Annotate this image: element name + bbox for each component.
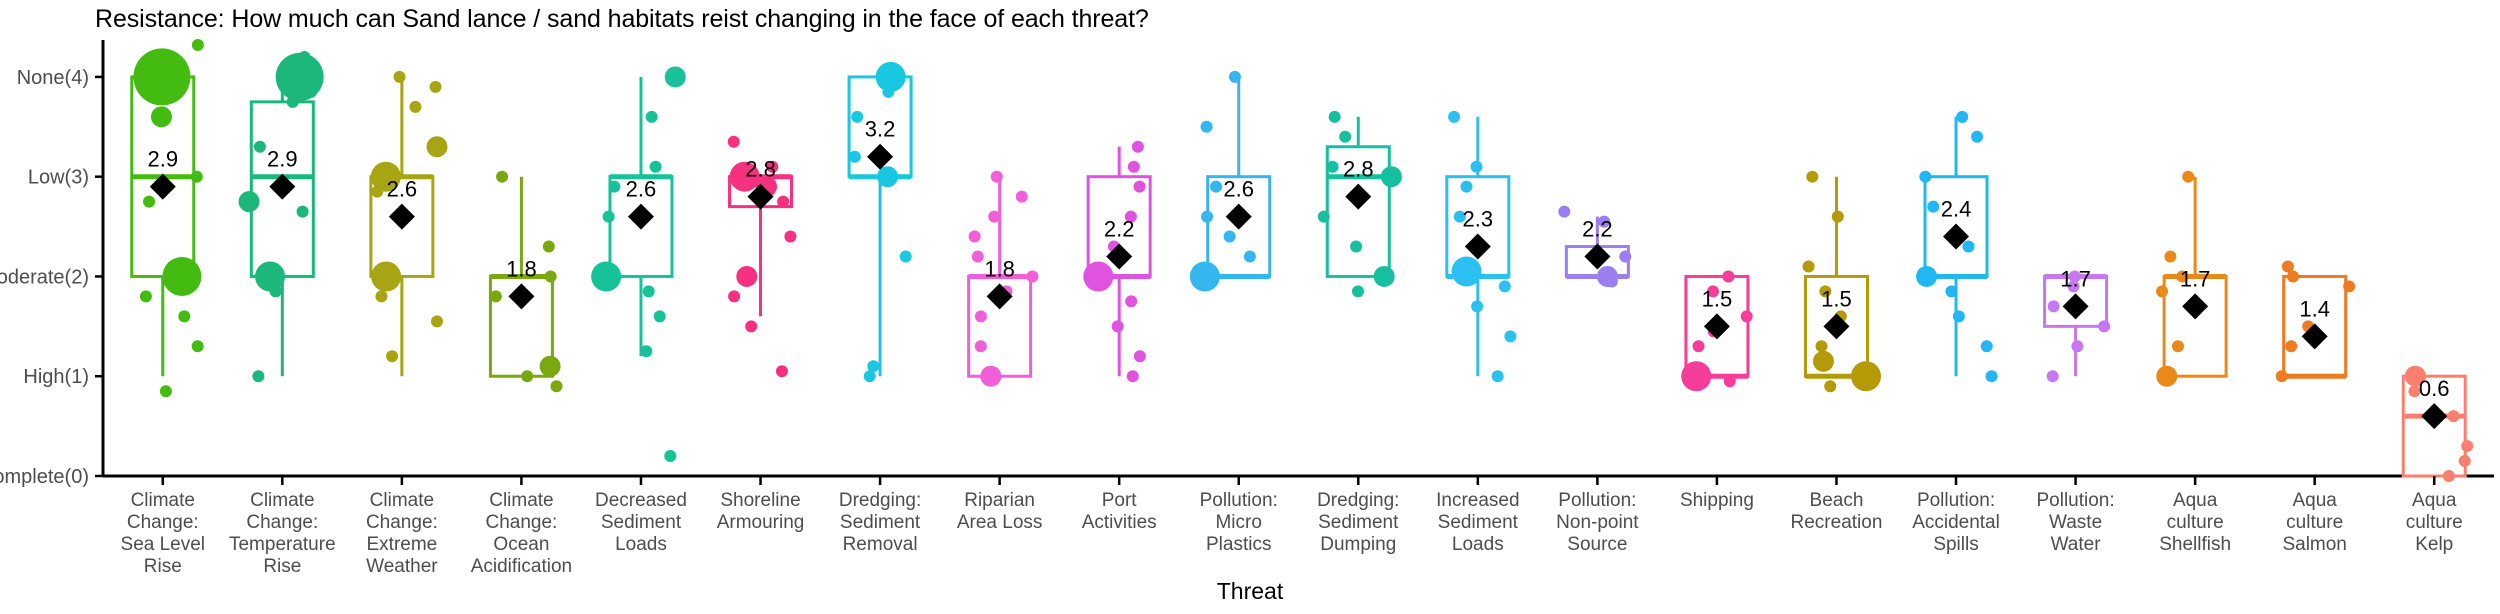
data-point (1953, 310, 1965, 322)
boxplot-group[interactable]: 2.6 (591, 66, 686, 462)
x-tick-label: AquacultureKelp (2406, 490, 2463, 555)
data-point (1816, 340, 1828, 352)
x-tick-label: ClimateChange:Sea LevelRise (121, 490, 206, 577)
data-point (2443, 470, 2455, 482)
boxplot-group[interactable]: 2.8 (1318, 111, 1402, 298)
data-point (1471, 300, 1483, 312)
data-point (239, 191, 260, 212)
data-point (975, 340, 987, 352)
data-point (591, 261, 621, 291)
data-point (371, 261, 401, 291)
data-point (646, 111, 658, 123)
data-point (545, 270, 557, 282)
x-axis-title: Threat (0, 578, 2500, 605)
data-point (640, 345, 652, 357)
data-point (1803, 260, 1815, 272)
x-tick-label: AquacultureShellfish (2159, 490, 2231, 555)
data-point (543, 241, 555, 253)
data-point (643, 285, 655, 297)
mean-value-label: 2.6 (387, 177, 418, 202)
data-point (1963, 241, 1975, 253)
mean-marker (867, 144, 893, 170)
data-point (2156, 366, 2177, 387)
data-point (1927, 201, 1939, 213)
data-point (2343, 280, 2355, 292)
mean-value-label: 1.7 (2060, 266, 2091, 291)
data-point (1919, 171, 1931, 183)
x-tick-label: DecreasedSedimentLoads (595, 490, 687, 555)
data-point (297, 206, 309, 218)
x-tick-label: ClimateChange:ExtremeWeather (366, 490, 438, 577)
data-point (2282, 260, 2294, 272)
data-point (1201, 211, 1213, 223)
data-point (160, 385, 172, 397)
boxplot-group[interactable]: 1.5 (1681, 270, 1752, 391)
data-point (736, 266, 757, 287)
data-point (1981, 340, 1993, 352)
mean-value-label: 1.5 (1702, 286, 1733, 311)
y-axis: Complete(0)High(1)Moderate(2)Low(3)None(… (0, 40, 103, 488)
data-point (2172, 340, 2184, 352)
data-point (298, 51, 310, 63)
mean-value-label: 1.7 (2180, 266, 2211, 291)
data-point (650, 161, 662, 173)
data-point (371, 186, 383, 198)
data-point (1606, 275, 1618, 287)
boxplot-group[interactable]: 1.4 (2276, 260, 2355, 382)
boxplot-group[interactable]: 2.3 (1447, 111, 1517, 382)
data-point (1813, 351, 1834, 372)
mean-value-label: 2.3 (1463, 207, 1494, 232)
mean-marker (389, 204, 415, 230)
mean-value-label: 2.4 (1941, 197, 1972, 222)
data-point (151, 106, 172, 127)
boxplot-group[interactable]: 1.7 (2156, 171, 2226, 387)
mean-value-label: 0.6 (2419, 376, 2450, 401)
data-point (1244, 251, 1256, 263)
boxplot-group[interactable]: 1.7 (2045, 266, 2111, 382)
data-point (1619, 251, 1631, 263)
boxplot-group[interactable]: 2.2 (1083, 141, 1150, 382)
data-point (1832, 211, 1844, 223)
data-point (1851, 361, 1881, 391)
mean-marker (1465, 234, 1491, 260)
data-point (972, 251, 984, 263)
mean-marker (1226, 204, 1252, 230)
data-point (2098, 320, 2110, 332)
data-point (1381, 166, 1402, 187)
data-point (1026, 270, 1038, 282)
boxplot-group[interactable]: 2.2 (1558, 206, 1631, 288)
mean-value-label: 2.8 (1343, 157, 1374, 182)
data-point (255, 261, 285, 291)
data-point (1128, 161, 1140, 173)
data-point (1229, 71, 1241, 83)
data-point (162, 257, 201, 296)
y-tick-label: None(4) (17, 67, 89, 89)
x-tick-label: ClimateChange:OceanAcidification (471, 490, 572, 577)
mean-marker (2182, 293, 2208, 319)
data-point (2156, 285, 2168, 297)
boxplot-group[interactable]: 2.9 (132, 39, 204, 397)
mean-value-label: 2.8 (745, 157, 776, 182)
data-point (1741, 310, 1753, 322)
data-point (254, 141, 266, 153)
x-tick-label: RiparianArea Loss (957, 490, 1043, 533)
data-point (2448, 410, 2460, 422)
data-point (386, 350, 398, 362)
data-point (2048, 300, 2060, 312)
data-point (1201, 121, 1213, 133)
data-point (1083, 261, 1113, 291)
chart-page: Resistance: How much can Sand lance / sa… (0, 0, 2500, 614)
data-point (1504, 330, 1516, 342)
x-tick-label: IncreasedSedimentLoads (1436, 490, 1519, 555)
data-point (777, 196, 789, 208)
x-tick-label: Shipping (1680, 490, 1754, 511)
data-point (2459, 455, 2471, 467)
data-point (1016, 191, 1028, 203)
y-tick-label: Complete(0) (0, 466, 89, 488)
y-tick-label: Low(3) (28, 167, 89, 189)
boxplot-group[interactable]: 1.5 (1803, 171, 1881, 393)
x-tick-label: ClimateChange:TemperatureRise (229, 490, 336, 577)
data-point (849, 151, 861, 163)
data-point (287, 96, 299, 108)
data-point (969, 231, 981, 243)
data-point (1945, 285, 1957, 297)
data-point (1956, 111, 1968, 123)
boxplot-group[interactable]: 3.2 (849, 62, 912, 382)
data-point (1224, 231, 1236, 243)
x-axis: ClimateChange:Sea LevelRiseClimateChange… (121, 476, 2463, 577)
data-point (776, 365, 788, 377)
boxplot-group[interactable]: 0.6 (2403, 366, 2473, 482)
x-tick-label: Pollution:AccidentalSpills (1912, 490, 2000, 555)
data-point (2164, 251, 2176, 263)
data-point (1681, 361, 1711, 391)
data-point (430, 81, 442, 93)
data-point (654, 310, 666, 322)
data-point (2285, 340, 2297, 352)
data-point (1971, 131, 1983, 143)
y-tick-label: Moderate(2) (0, 266, 89, 288)
data-point (521, 370, 533, 382)
data-point (496, 171, 508, 183)
x-tick-label: BeachRecreation (1791, 490, 1883, 533)
data-point (192, 39, 204, 51)
boxplot-group[interactable]: 2.6 (371, 71, 448, 376)
data-point (1986, 370, 1998, 382)
data-point (393, 71, 405, 83)
x-tick-label: Dredging:SedimentRemoval (839, 490, 921, 555)
data-point (191, 171, 203, 183)
data-point (975, 310, 987, 322)
data-point (2276, 370, 2288, 382)
data-point (2461, 440, 2473, 452)
data-point (551, 380, 563, 392)
data-point (426, 136, 447, 157)
mean-marker (508, 283, 534, 309)
data-point (133, 48, 190, 105)
data-point (728, 136, 740, 148)
data-point (1350, 241, 1362, 253)
mean-value-label: 3.2 (865, 117, 896, 142)
x-tick-label: Pollution:Non-pointSource (1556, 490, 1639, 555)
boxplot-group[interactable]: 2.4 (1916, 111, 1997, 382)
mean-marker (628, 204, 654, 230)
data-point (1452, 256, 1482, 286)
x-tick-label: ShorelineArmouring (717, 490, 805, 533)
boxplot-group[interactable]: 1.8 (490, 171, 563, 393)
data-point (2071, 340, 2083, 352)
data-point (1132, 141, 1144, 153)
boxplot-series: 2.92.92.61.82.62.83.21.82.22.62.82.32.21… (132, 39, 2473, 482)
data-point (664, 450, 676, 462)
data-point (1374, 266, 1395, 287)
boxplot-group[interactable]: 2.6 (1190, 71, 1270, 292)
x-tick-label: PortActivities (1082, 490, 1157, 533)
mean-value-label: 2.6 (1223, 177, 1254, 202)
data-point (988, 211, 1000, 223)
data-point (1724, 375, 1736, 387)
mean-value-label: 2.2 (1582, 217, 1613, 242)
data-point (608, 181, 620, 193)
data-point (143, 196, 155, 208)
mean-value-label: 2.6 (626, 177, 657, 202)
mean-value-label: 1.8 (984, 256, 1015, 281)
data-point (784, 231, 796, 243)
data-point (1722, 270, 1734, 282)
data-point (1499, 280, 1511, 292)
data-point (1199, 275, 1211, 287)
data-point (1210, 181, 1222, 193)
mean-value-label: 1.8 (506, 256, 537, 281)
data-point (409, 101, 421, 113)
data-point (490, 290, 502, 302)
data-point (1448, 111, 1460, 123)
x-tick-label: Pollution:MicroPlastics (1200, 490, 1278, 555)
data-point (1327, 161, 1339, 173)
data-point (2047, 370, 2059, 382)
data-point (1127, 370, 1139, 382)
data-point (882, 86, 894, 98)
data-point (980, 366, 1001, 387)
mean-marker (2063, 293, 2089, 319)
mean-value-label: 1.4 (2299, 296, 2330, 321)
data-point (1134, 350, 1146, 362)
data-point (305, 86, 317, 98)
data-point (540, 356, 561, 377)
boxplot-figure: Complete(0)High(1)Moderate(2)Low(3)None(… (0, 0, 2500, 614)
data-point (1693, 340, 1705, 352)
x-tick-label: Pollution:WasteWater (2036, 490, 2114, 555)
data-point (603, 211, 615, 223)
x-tick-label: Dredging:SedimentDumping (1317, 490, 1399, 555)
boxplot-group[interactable]: 2.8 (728, 136, 797, 377)
data-point (1806, 171, 1818, 183)
data-point (252, 370, 264, 382)
data-point (1125, 295, 1137, 307)
data-point (665, 66, 686, 87)
mean-marker (1704, 313, 1730, 339)
boxplot-group[interactable]: 1.8 (969, 171, 1039, 387)
data-point (270, 285, 282, 297)
data-point (431, 315, 443, 327)
mean-marker (1345, 184, 1371, 210)
data-point (1112, 320, 1124, 332)
data-point (375, 290, 387, 302)
mean-value-label: 2.2 (1104, 217, 1135, 242)
data-point (1471, 161, 1483, 173)
data-point (1558, 206, 1570, 218)
data-point (745, 320, 757, 332)
mean-value-label: 1.5 (1821, 286, 1852, 311)
data-point (1318, 211, 1330, 223)
data-point (991, 171, 1003, 183)
data-point (2182, 171, 2194, 183)
data-point (1824, 380, 1836, 392)
mean-value-label: 2.9 (267, 147, 298, 172)
data-point (1492, 370, 1504, 382)
data-point (178, 310, 190, 322)
mean-value-label: 2.9 (147, 147, 178, 172)
y-tick-label: High(1) (23, 366, 89, 388)
data-point (1352, 285, 1364, 297)
boxplot-group[interactable]: 2.9 (239, 51, 324, 382)
data-point (864, 370, 876, 382)
data-point (1339, 131, 1351, 143)
mean-marker (2421, 403, 2447, 429)
data-point (1134, 181, 1146, 193)
data-point (900, 251, 912, 263)
data-point (851, 111, 863, 123)
data-point (728, 290, 740, 302)
data-point (1916, 266, 1937, 287)
x-tick-label: AquacultureSalmon (2282, 490, 2346, 555)
data-point (192, 340, 204, 352)
data-point (1329, 111, 1341, 123)
data-point (140, 290, 152, 302)
data-point (1460, 181, 1472, 193)
